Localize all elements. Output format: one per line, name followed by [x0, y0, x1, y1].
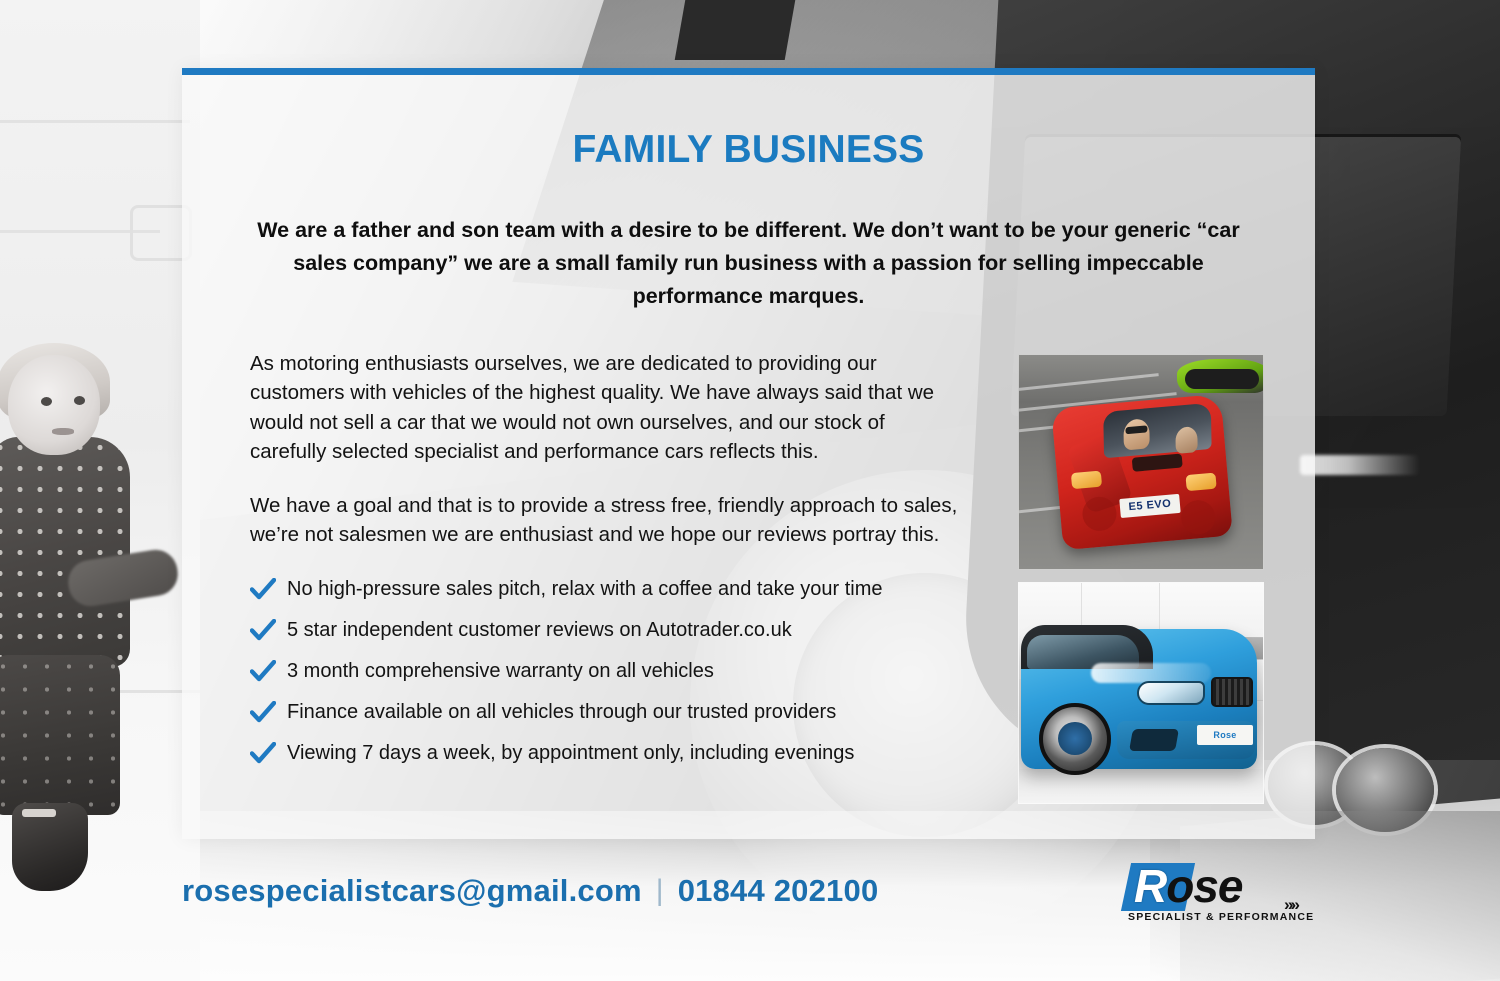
list-item: No high-pressure sales pitch, relax with…	[250, 576, 962, 602]
driver-figure	[1123, 418, 1149, 450]
child-top	[0, 437, 130, 667]
kidney-grille-shape	[1211, 677, 1253, 707]
text-column: As motoring enthusiasts ourselves, we ar…	[250, 349, 962, 781]
footer: rosespecialistcars@gmail.com | 01844 202…	[0, 839, 1500, 981]
check-icon	[250, 578, 278, 600]
air-intake-shape	[1129, 729, 1179, 751]
headlight-shape	[1137, 681, 1205, 705]
bmw-body: Rose	[1021, 629, 1257, 769]
child-mouth	[52, 428, 74, 435]
bonnet-vent-shape	[1132, 453, 1183, 471]
phone-link[interactable]: 01844 202100	[678, 873, 879, 909]
windscreen-shape	[1103, 402, 1211, 458]
number-plate-text: Rose	[1213, 730, 1236, 740]
alloy-wheel-shape	[1039, 703, 1111, 775]
list-item: 5 star independent customer reviews on A…	[250, 617, 962, 643]
logo-wordmark: Rose	[1134, 857, 1334, 915]
number-plate: Rose	[1197, 725, 1253, 745]
logo-tagline: SPECIALIST & PERFORMANCE	[1128, 911, 1326, 923]
lead-paragraph: We are a father and son team with a desi…	[249, 214, 1249, 313]
child-head	[8, 355, 100, 455]
content-panel: FAMILY BUSINESS We are a father and son …	[182, 68, 1315, 839]
list-item-label: No high-pressure sales pitch, relax with…	[287, 576, 883, 602]
rose-logo: Rose »» SPECIALIST & PERFORMANCE	[1126, 859, 1326, 931]
list-item-label: Finance available on all vehicles throug…	[287, 699, 836, 725]
check-icon	[250, 742, 278, 764]
track-marking	[1018, 373, 1159, 392]
passenger-figure	[1175, 426, 1197, 454]
red-evo-track-photo: E5 EVO	[1018, 354, 1264, 570]
benefits-list: No high-pressure sales pitch, relax with…	[250, 576, 962, 766]
showroom-floor-shape	[1019, 769, 1264, 803]
email-link[interactable]: rosespecialistcars@gmail.com	[182, 873, 642, 909]
child-photo-subject	[0, 355, 175, 895]
page-title: FAMILY BUSINESS	[182, 128, 1315, 172]
child-eye	[41, 397, 52, 406]
photo-column: E5 EVO Rose	[1018, 354, 1264, 804]
headlight-shape	[1185, 472, 1216, 491]
hood-reflection	[1091, 663, 1211, 683]
child-trousers	[0, 655, 120, 815]
body-paragraph-2: We have a goal and that is to provide a …	[250, 491, 962, 550]
red-car-body: E5 EVO	[1051, 394, 1233, 550]
wall-line	[0, 120, 190, 123]
list-item-label: Viewing 7 days a week, by appointment on…	[287, 740, 854, 766]
bumper-vent-shape	[1180, 499, 1217, 536]
body-paragraph-1: As motoring enthusiasts ourselves, we ar…	[250, 349, 962, 467]
green-car-shape	[1177, 359, 1264, 393]
check-icon	[250, 619, 278, 641]
list-item: Finance available on all vehicles throug…	[250, 699, 962, 725]
contact-bar: rosespecialistcars@gmail.com | 01844 202…	[182, 873, 878, 909]
logo-letter-r: R	[1134, 860, 1166, 912]
headlight-shape	[1071, 470, 1102, 489]
list-item-label: 5 star independent customer reviews on A…	[287, 617, 792, 643]
child-eye	[74, 396, 85, 405]
blue-bmw-m2-showroom-photo: Rose	[1018, 582, 1264, 804]
check-icon	[250, 701, 278, 723]
list-item-label: 3 month comprehensive warranty on all ve…	[287, 658, 714, 684]
headlight-glow-shape	[1300, 455, 1420, 475]
ceiling-strip-shape	[675, 0, 796, 60]
logo-letters-ose: ose	[1166, 860, 1242, 912]
contact-separator: |	[656, 874, 664, 908]
check-icon	[250, 660, 278, 682]
list-item: Viewing 7 days a week, by appointment on…	[250, 740, 962, 766]
list-item: 3 month comprehensive warranty on all ve…	[250, 658, 962, 684]
